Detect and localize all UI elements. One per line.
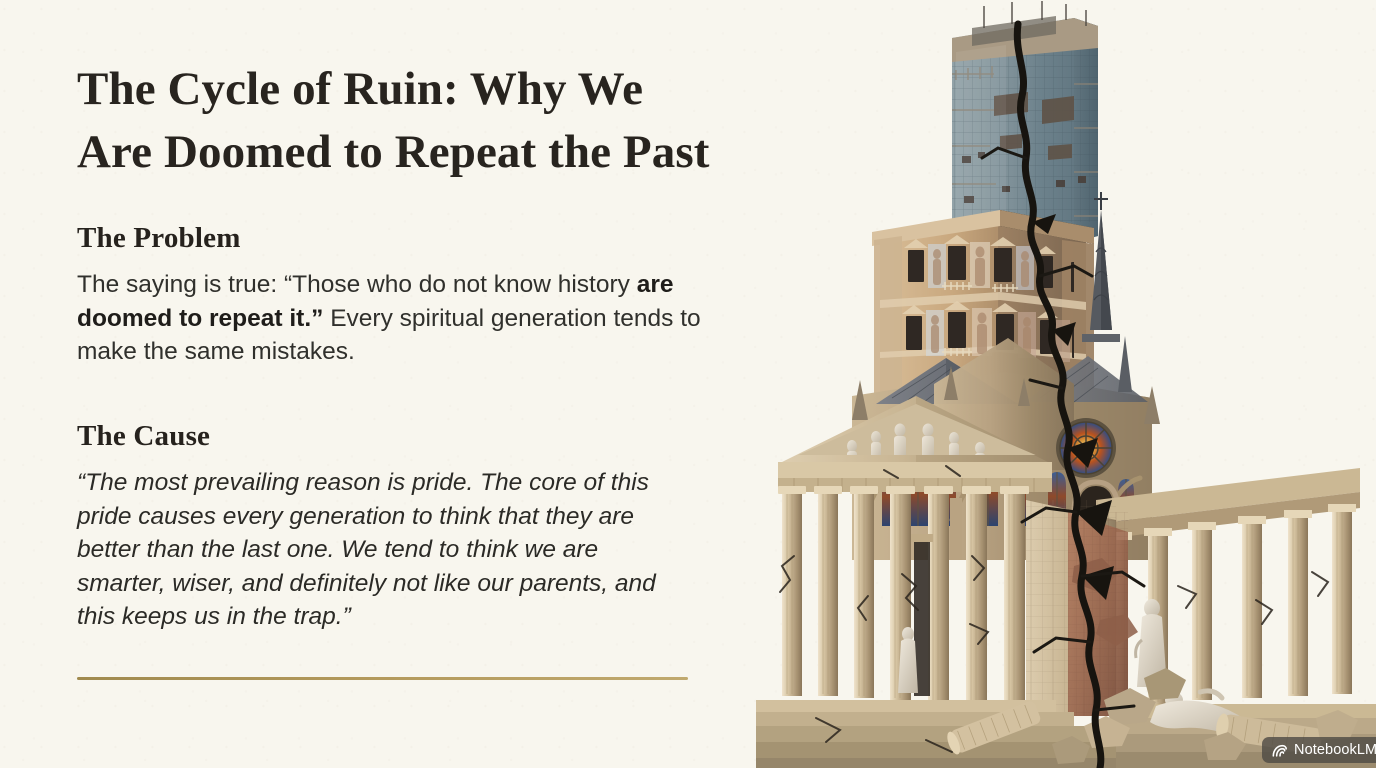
text-column: The Cycle of Ruin: Why We Are Doomed to … [77,58,717,664]
section-body-cause-quote: “The most prevailing reason is pride. Th… [77,466,692,634]
section-heading-cause: The Cause [77,419,717,454]
slide-canvas: The Cycle of Ruin: Why We Are Doomed to … [0,0,1376,768]
notebooklm-watermark: NotebookLM [1262,737,1376,763]
notebooklm-spiral-icon [1271,743,1288,758]
page-title: The Cycle of Ruin: Why We Are Doomed to … [77,58,717,183]
section-heading-problem: The Problem [77,221,717,256]
section-spacer [77,399,717,419]
section-the-cause: The Cause “The most prevailing reason is… [77,419,717,634]
right-colonnade [1096,468,1360,706]
problem-text-lead: The saying is true: “Those who do not kn… [77,271,637,298]
section-body-problem: The saying is true: “Those who do not kn… [77,268,702,369]
notebooklm-watermark-label: NotebookLM [1294,742,1376,758]
divider-rule [77,677,688,680]
section-the-problem: The Problem The saying is true: “Those w… [77,221,717,369]
ruin-tower-illustration [756,0,1376,768]
